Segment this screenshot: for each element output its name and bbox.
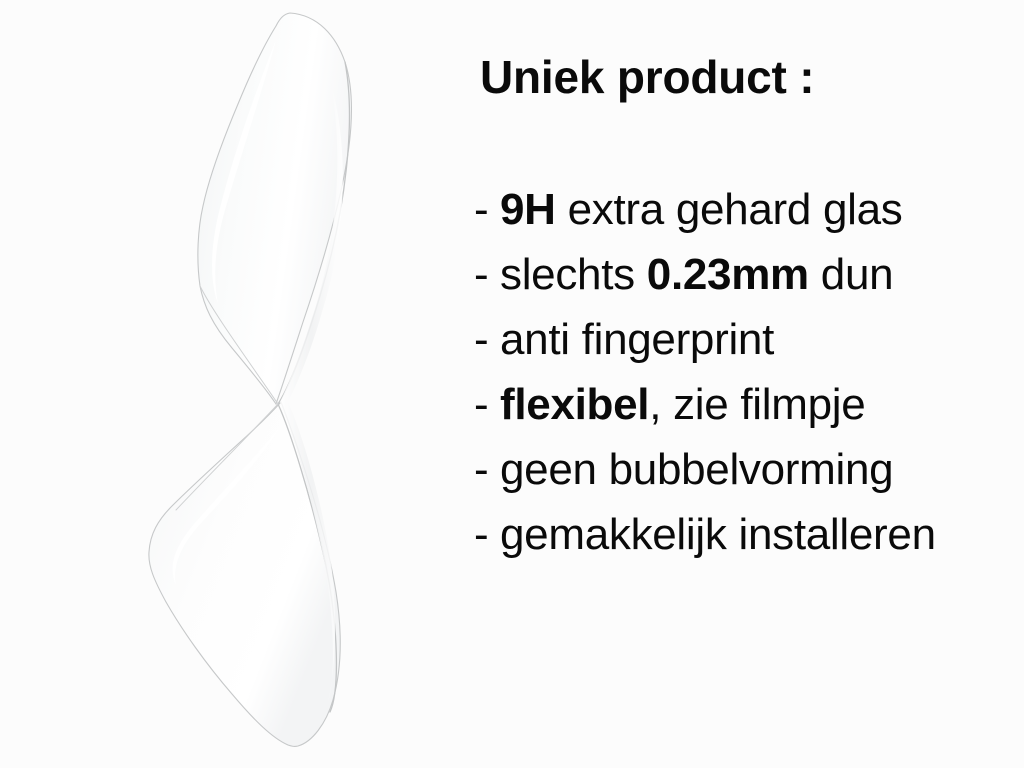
feature-rest: , zie filmpje bbox=[649, 380, 865, 429]
list-item: -anti fingerprint bbox=[474, 314, 936, 379]
feature-emphasis: 0.23mm bbox=[647, 250, 809, 299]
feature-lead: slechts bbox=[500, 250, 647, 299]
list-item: -gemakkelijk installeren bbox=[474, 509, 936, 574]
feature-label-easyinstall: gemakkelijk installeren bbox=[500, 510, 936, 559]
product-image bbox=[0, 0, 460, 768]
page-title: Uniek product : bbox=[480, 54, 814, 100]
feature-label-nobubbles: geen bubbelvorming bbox=[500, 445, 893, 494]
feature-emphasis: 9H bbox=[500, 185, 556, 234]
feature-emphasis: flexibel bbox=[500, 380, 649, 429]
list-item: -geen bubbelvorming bbox=[474, 444, 936, 509]
bullet-dash: - bbox=[474, 444, 500, 496]
bullet-dash: - bbox=[474, 249, 500, 301]
feature-label-antifingerprint: anti fingerprint bbox=[500, 315, 774, 364]
list-item: -9H extra gehard glas bbox=[474, 184, 936, 249]
product-promo-slide: Uniek product : -9H extra gehard glas -s… bbox=[0, 0, 1024, 768]
feature-label-9h: 9H extra gehard glas bbox=[500, 185, 902, 234]
list-item: -flexibel, zie filmpje bbox=[474, 379, 936, 444]
glass-lower-lobe bbox=[149, 402, 340, 746]
list-item: -slechts 0.23mm dun bbox=[474, 249, 936, 314]
bullet-dash: - bbox=[474, 379, 500, 431]
copy-column: Uniek product : -9H extra gehard glas -s… bbox=[474, 0, 1024, 768]
bullet-dash: - bbox=[474, 184, 500, 236]
tempered-glass-illustration bbox=[0, 0, 460, 768]
feature-rest: dun bbox=[809, 250, 893, 299]
bullet-dash: - bbox=[474, 509, 500, 561]
bullet-dash: - bbox=[474, 314, 500, 366]
feature-list: -9H extra gehard glas -slechts 0.23mm du… bbox=[474, 184, 936, 574]
feature-rest: extra gehard glas bbox=[556, 185, 903, 234]
feature-label-flexibel: flexibel, zie filmpje bbox=[500, 380, 865, 429]
feature-label-thickness: slechts 0.23mm dun bbox=[500, 250, 893, 299]
